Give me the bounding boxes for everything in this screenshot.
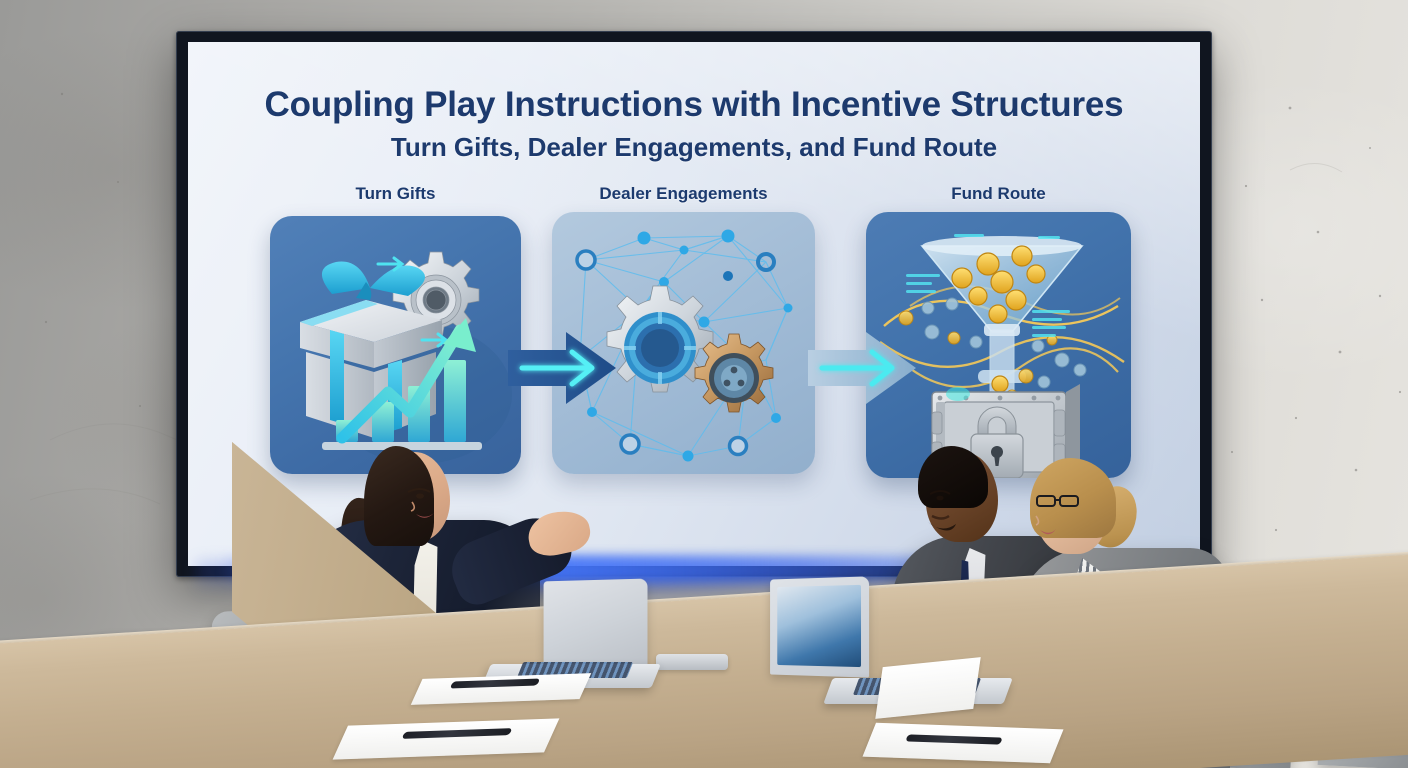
- step-panel-turn-gifts[interactable]: [270, 216, 521, 474]
- face-features: [1034, 504, 1084, 548]
- conference-mic[interactable]: [656, 654, 728, 670]
- face-features: [924, 486, 984, 536]
- connector-arrow-2: [808, 330, 918, 406]
- slide-title: Coupling Play Instructions with Incentiv…: [188, 85, 1200, 125]
- laptop-screen-right[interactable]: [770, 576, 869, 677]
- connector-arrow-1: [508, 330, 618, 406]
- step-label-turn-gifts: Turn Gifts: [270, 184, 521, 204]
- step-label-fund-route: Fund Route: [866, 184, 1131, 204]
- bronze-gear-icon: [695, 334, 773, 412]
- turn-gifts-illustration: [270, 216, 521, 474]
- slide-subtitle: Turn Gifts, Dealer Engagements, and Fund…: [188, 132, 1200, 163]
- face-features: [398, 486, 458, 526]
- laptop-screen-content: [777, 585, 861, 667]
- step-label-dealer-engagements: Dealer Engagements: [552, 184, 815, 204]
- paper-held[interactable]: [875, 657, 980, 719]
- conference-room-scene: Coupling Play Instructions with Incentiv…: [0, 0, 1408, 768]
